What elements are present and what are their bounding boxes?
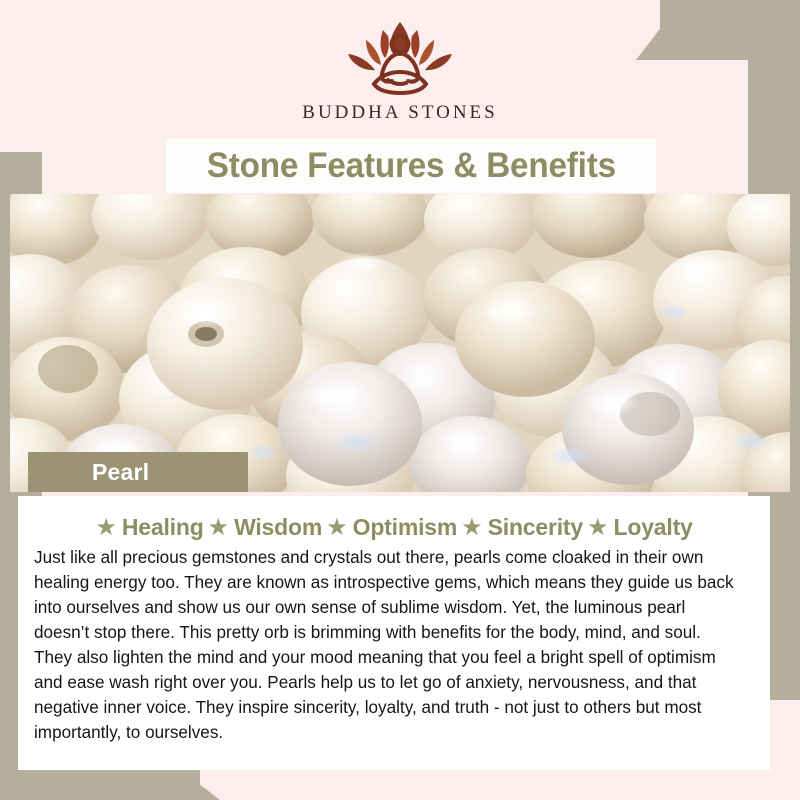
- benefit-label: Optimism: [353, 514, 457, 541]
- stone-name-label: Pearl: [28, 459, 149, 486]
- stone-name-tab: Pearl: [28, 452, 248, 492]
- benefit-item-optimism: ★Optimism: [326, 514, 457, 541]
- star-icon: ★: [587, 516, 609, 540]
- benefit-item-sincerity: ★Sincerity: [461, 514, 583, 541]
- brand-logo: BUDDHA STONES: [0, 0, 800, 140]
- star-icon: ★: [461, 516, 483, 540]
- page-title: Stone Features & Benefits: [206, 146, 615, 186]
- poster-canvas: BUDDHA STONES Stone Features & Benefits: [0, 0, 800, 800]
- benefit-item-wisdom: ★Wisdom: [208, 514, 323, 541]
- pearl-photo-illustration: [10, 194, 790, 492]
- brand-wordmark: BUDDHA STONES: [302, 102, 497, 124]
- benefit-label: Loyalty: [614, 514, 693, 541]
- benefit-label: Wisdom: [234, 514, 322, 541]
- benefit-label: Sincerity: [488, 514, 583, 541]
- benefit-item-healing: ★Healing: [95, 514, 203, 541]
- benefit-label: Healing: [122, 514, 204, 541]
- benefits-list: ★Healing★Wisdom★Optimism★Sincerity★Loyal…: [32, 514, 756, 541]
- stone-description: Just like all precious gemstones and cry…: [34, 545, 743, 745]
- star-icon: ★: [326, 516, 348, 540]
- content-panel: ★Healing★Wisdom★Optimism★Sincerity★Loyal…: [18, 496, 770, 770]
- star-icon: ★: [208, 516, 230, 540]
- lotus-meditation-icon: [330, 14, 470, 98]
- benefit-item-loyalty: ★Loyalty: [587, 514, 693, 541]
- title-banner: Stone Features & Benefits: [166, 139, 656, 193]
- pearl-photograph: [10, 194, 790, 492]
- star-icon: ★: [95, 516, 117, 540]
